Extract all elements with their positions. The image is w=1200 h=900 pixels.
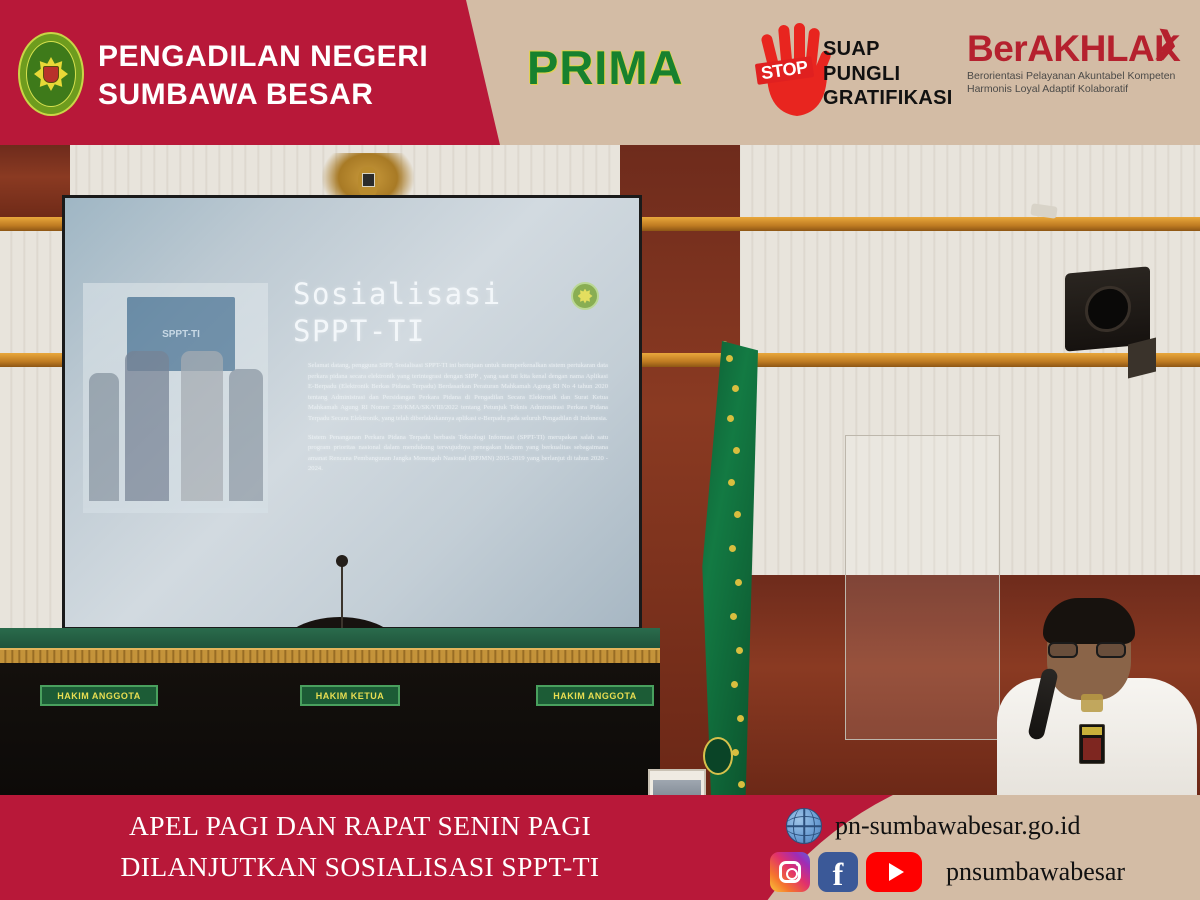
speaker-person	[985, 590, 1200, 800]
bench-microphone-stand	[341, 563, 343, 631]
slide-title: Sosialisasi SPPT-TI	[293, 276, 502, 350]
slide-court-logo-icon	[571, 282, 599, 310]
banner-header: PENGADILAN NEGERI SUMBAWA BESAR PRIMA ST…	[0, 0, 1200, 145]
speaker-hair	[1043, 598, 1135, 644]
wall-wood-panel-left	[0, 145, 70, 225]
social-media-row[interactable]: f pnsumbawabesar	[770, 852, 1125, 892]
slide-title-line-1: Sosialisasi	[293, 276, 502, 313]
judges-bench-front	[0, 663, 660, 800]
event-photograph: SPPT-TI Sosialisasi SPPT-TI Selamat data…	[0, 145, 1200, 800]
slide-body-text: Selamat datang, pengguna SIPP, Sosialisa…	[308, 361, 608, 483]
slide-paragraph-1: Selamat datang, pengguna SIPP, Sosialisa…	[308, 361, 608, 425]
bench-plate-center: HAKIM KETUA	[300, 685, 400, 706]
website-row[interactable]: pn-sumbawabesar.go.id	[786, 808, 1081, 844]
event-caption: APEL PAGI DAN RAPAT SENIN PAGI DILANJUTK…	[0, 805, 720, 887]
id-badge-header	[1082, 727, 1102, 735]
inset-person-1	[89, 373, 119, 501]
inset-person-2	[125, 351, 169, 501]
court-title: PENGADILAN NEGERI SUMBAWA BESAR	[98, 38, 428, 114]
prima-logo: PRIMA	[527, 40, 683, 95]
stop-pungli-logo: STOP SUAP PUNGLI GRATIFIKASI	[755, 22, 955, 122]
projection-screen: SPPT-TI Sosialisasi SPPT-TI Selamat data…	[62, 195, 642, 630]
stop-text-line-1: SUAP	[823, 37, 953, 62]
garuda-shield	[362, 173, 375, 187]
id-badge-photo	[1083, 738, 1101, 760]
bench-plate-left: HAKIM ANGGOTA	[40, 685, 158, 706]
event-caption-line-1: APEL PAGI DAN RAPAT SENIN PAGI	[0, 805, 720, 846]
court-title-line-1: PENGADILAN NEGERI	[98, 38, 428, 76]
play-triangle-icon	[889, 863, 904, 881]
bench-plate-right: HAKIM ANGGOTA	[536, 685, 654, 706]
berakhlak-subtitle: Berorientasi Pelayanan Akuntabel Kompete…	[967, 70, 1177, 96]
berakhlak-subtitle-line-1: Berorientasi Pelayanan Akuntabel Kompete…	[967, 70, 1177, 83]
stop-text-line-3: GRATIFIKASI	[823, 86, 953, 111]
slide-inset-photo: SPPT-TI	[83, 283, 268, 513]
globe-icon	[786, 808, 822, 844]
inset-person-4	[229, 369, 263, 501]
eyeglass-lens-left	[1048, 642, 1078, 658]
website-url[interactable]: pn-sumbawabesar.go.id	[835, 811, 1081, 841]
court-title-line-2: SUMBAWA BESAR	[98, 76, 428, 114]
berakhlak-logo: BerAKHLAK ❯ Berorientasi Pelayanan Akunt…	[967, 30, 1177, 110]
court-seal-inner	[26, 41, 76, 107]
youtube-icon[interactable]	[866, 852, 922, 892]
uniform-emblem-icon	[1081, 694, 1103, 712]
wall-door	[845, 435, 1000, 740]
event-caption-line-2: DILANJUTKAN SOSIALISASI SPPT-TI	[0, 846, 720, 887]
judges-bench-trim	[0, 648, 660, 664]
speaker-bracket	[1128, 338, 1156, 379]
court-seal-star-icon	[34, 57, 68, 91]
instagram-icon[interactable]	[770, 852, 810, 892]
id-badge	[1079, 724, 1105, 764]
eyeglass-lens-right	[1096, 642, 1126, 658]
berakhlak-title: BerAKHLAK	[967, 30, 1177, 68]
slide-paragraph-2: Sistem Penanganan Perkara Pidana Terpadu…	[308, 433, 608, 475]
facebook-icon[interactable]: f	[818, 852, 858, 892]
eyeglasses-icon	[1048, 642, 1126, 658]
bench-microphone-head-icon	[336, 555, 348, 567]
facebook-glyph: f	[833, 858, 844, 890]
flag-emblem-icon	[703, 737, 733, 775]
stop-pungli-text: SUAP PUNGLI GRATIFIKASI	[823, 37, 953, 111]
court-seal-shield-icon	[43, 66, 59, 83]
judges-bench-top	[0, 628, 660, 650]
stop-text-line-2: PUNGLI	[823, 62, 953, 87]
chevron-right-icon: ❯	[1152, 24, 1182, 62]
wall-speaker	[1065, 266, 1150, 351]
social-handle[interactable]: pnsumbawabesar	[946, 857, 1125, 887]
flag-fringe-cord	[726, 355, 746, 795]
speaker-cone-icon	[1085, 284, 1131, 334]
inset-person-3	[181, 351, 223, 501]
berakhlak-subtitle-line-2: Harmonis Loyal Adaptif Kolaboratif	[967, 83, 1177, 96]
court-seal-logo	[18, 32, 84, 116]
slide-title-line-2: SPPT-TI	[293, 313, 502, 350]
